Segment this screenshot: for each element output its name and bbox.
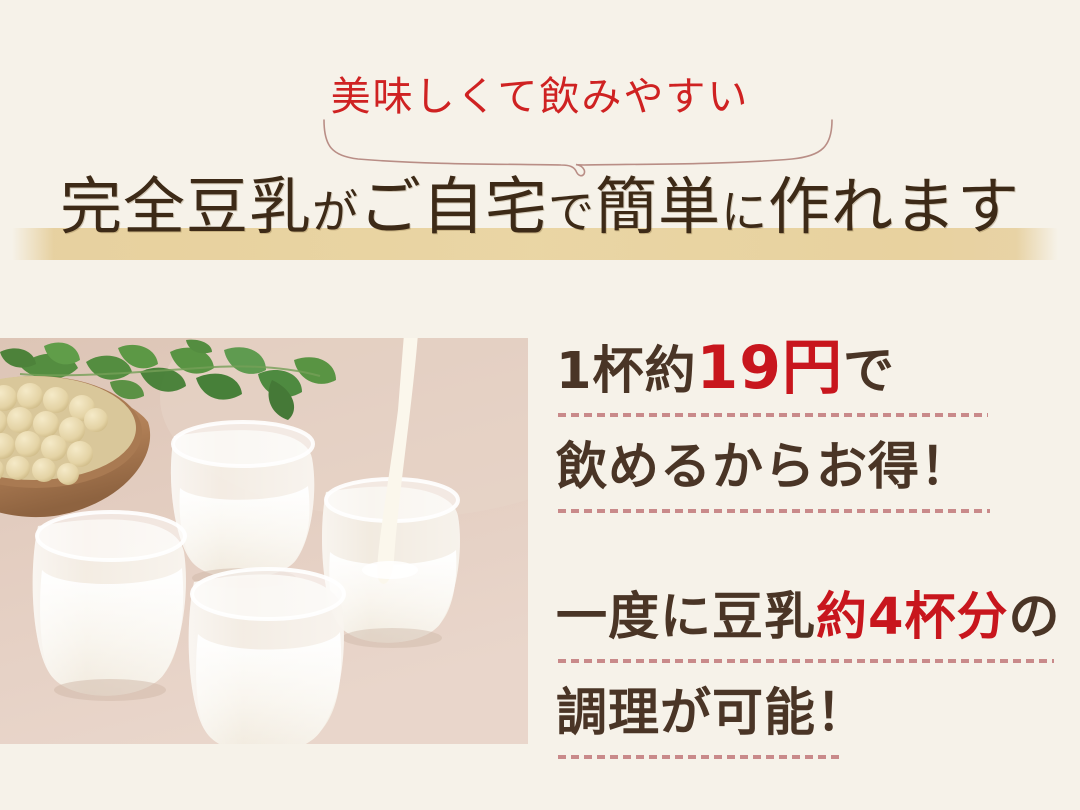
copy-line-capacity-1: 一度に豆乳約4杯分の (556, 586, 1068, 650)
dashed-rule (558, 755, 844, 759)
capacity-value: 約4杯分 (816, 588, 1009, 647)
price-prefix: 1杯約 (556, 342, 697, 401)
page-title: 完全豆乳がご自宅で簡単に作れます (0, 176, 1080, 238)
headline-part-4: で (548, 185, 595, 239)
dashed-rule (558, 413, 988, 417)
copy-block-capacity: 一度に豆乳約4杯分の 調理が可能！ (556, 586, 1068, 746)
headline-part-5: 簡単 (595, 170, 721, 243)
headline-part-3: ご自宅 (359, 170, 548, 243)
copy-block-price: 1杯約19円で 飲めるからお得！ (556, 336, 1068, 500)
copy-column: 1杯約19円で 飲めるからお得！ 一度に豆乳約4杯分の 調理が可能！ (556, 336, 1068, 746)
price-value: 19円 (697, 333, 844, 403)
glass-front-left (33, 512, 186, 701)
promo-banner: 美味しくて飲みやすい 完全豆乳がご自宅で簡単に作れます (0, 0, 1080, 810)
capacity-benefit-text: 調理が可能！ (556, 684, 868, 743)
headline-part-1: 完全豆乳 (60, 170, 312, 243)
glass-front-center (189, 569, 344, 744)
dashed-rule (558, 509, 990, 513)
headline-part-2: が (312, 185, 359, 239)
soy-milk-photo (0, 338, 528, 744)
copy-line-price-2: 飲めるからお得！ (556, 436, 1068, 500)
price-benefit-text: 飲めるからお得！ (556, 438, 972, 497)
capacity-suffix: の (1009, 588, 1061, 647)
eyebrow-text: 美味しくて飲みやすい (0, 64, 1080, 122)
headline-part-6: に (721, 185, 768, 239)
copy-line-capacity-2: 調理が可能！ (556, 682, 1068, 746)
headline-part-7: 作れます (768, 170, 1020, 243)
capacity-prefix: 一度に豆乳 (556, 588, 816, 647)
curly-brace-decoration (318, 118, 838, 178)
dashed-rule (558, 659, 1054, 663)
price-suffix: で (843, 342, 895, 401)
copy-line-price-1: 1杯約19円で (556, 336, 1068, 404)
